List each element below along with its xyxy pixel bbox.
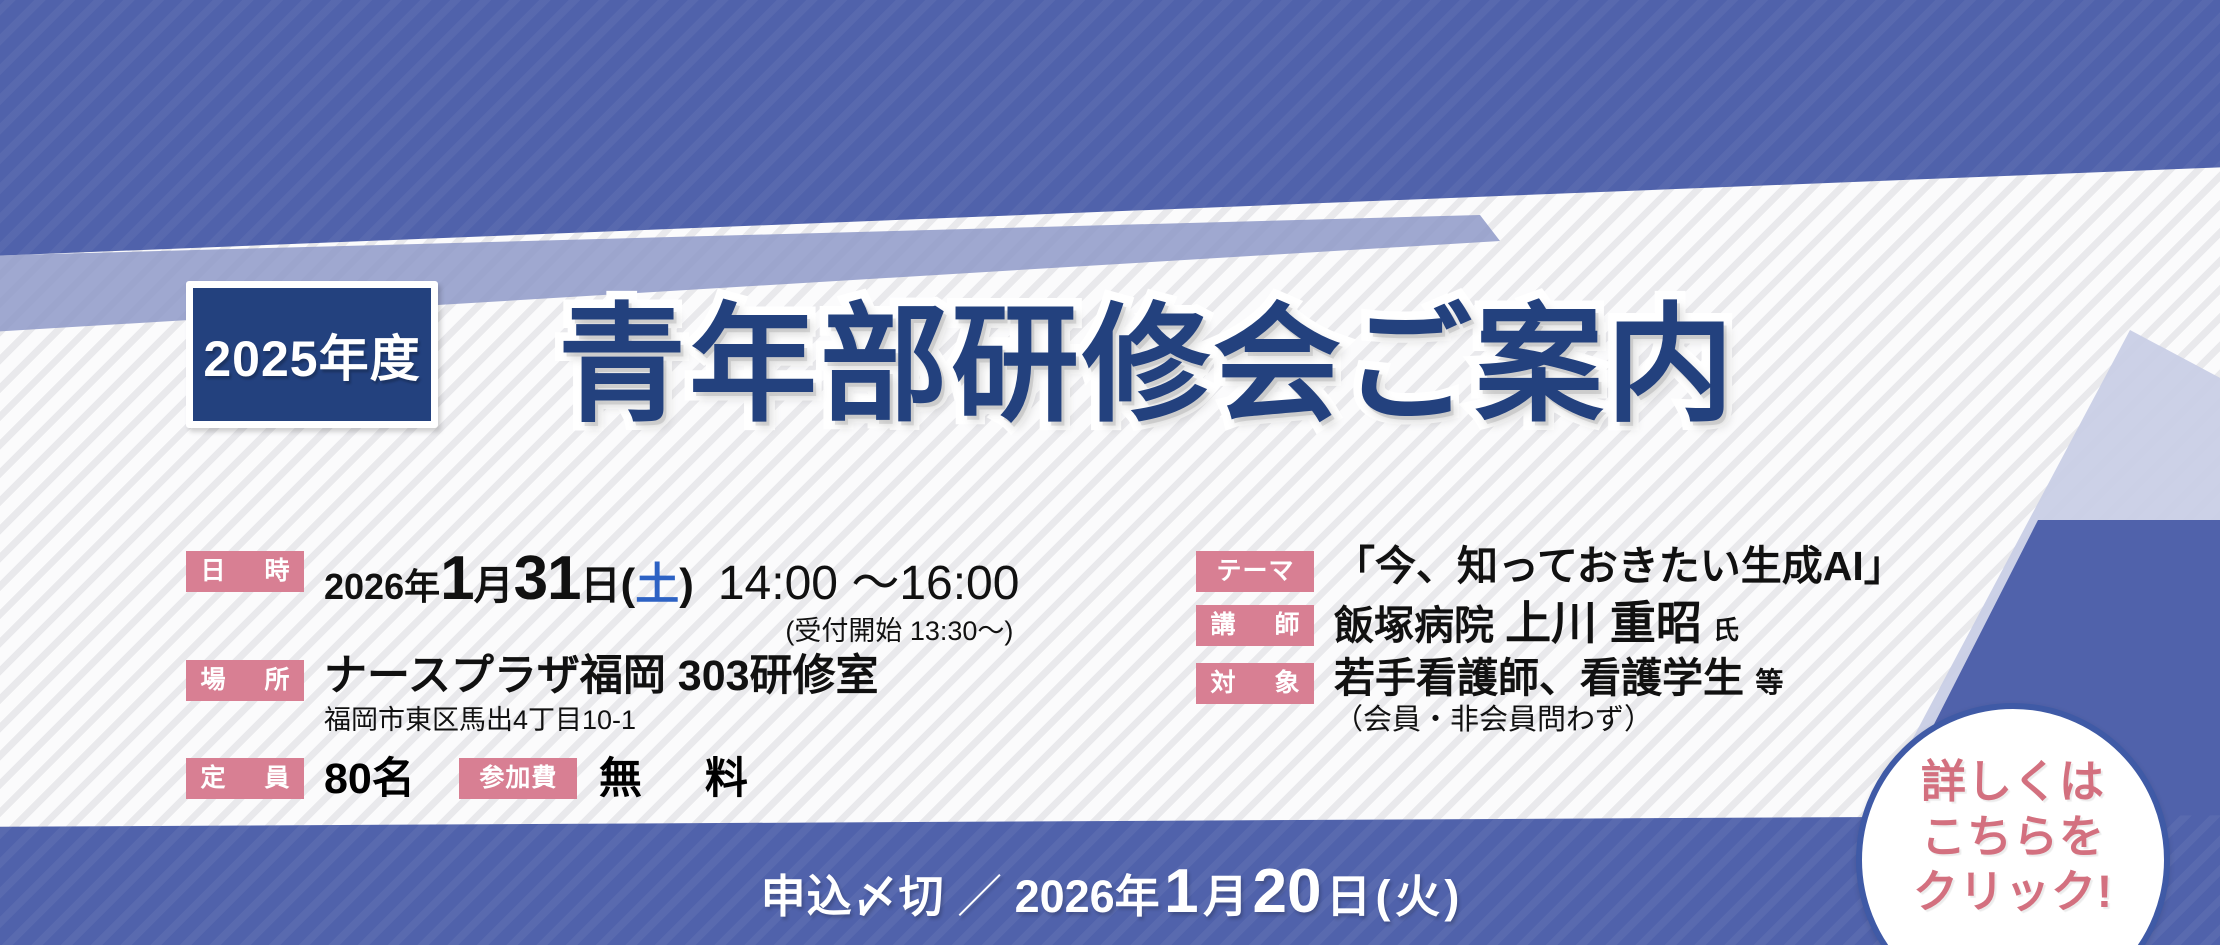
date-month-unit: 月 [474, 563, 514, 609]
date-paren-open: ( [621, 560, 636, 611]
theme-tag: テーマ [1196, 551, 1314, 592]
date-reception-note: (受付開始 13:30〜) [324, 616, 1019, 647]
target-suffix: 等 [1755, 667, 1783, 698]
deadline-day-number: 20 [1253, 857, 1322, 926]
cta-line-3: クリック! [1913, 865, 2113, 920]
target-value: 若手看護師、看護学生 等 [1334, 655, 1783, 702]
cta-line-2: こちらを [1921, 810, 2105, 865]
target-note: （会員・非会員問わず） [1334, 704, 1783, 737]
lecturer-tag: 講 師 [1196, 605, 1314, 646]
date-time-range: 14:00 〜16:00 [718, 556, 1020, 611]
deadline-month-number: 1 [1164, 857, 1198, 926]
fee-tag: 参加費 [459, 758, 577, 799]
date-value: 2026年 1 月 31 日 ( 土 ) 14:00 〜16:00 (受付開始 … [324, 543, 1019, 647]
venue-tag: 場 所 [186, 660, 304, 701]
theme-value: 「今、知っておきたい生成AI」 [1334, 543, 1905, 590]
venue-name: ナースプラザ福岡 303研修室 [324, 652, 879, 701]
lecturer-name: 上川 重昭 [1505, 597, 1702, 649]
venue-address: 福岡市東区馬出4丁目10-1 [324, 705, 879, 736]
info-row-venue: 場 所 ナースプラザ福岡 303研修室 福岡市東区馬出4丁目10-1 [186, 652, 1046, 735]
lecturer-affiliation: 飯塚病院 [1334, 604, 1494, 648]
target-tag: 対 象 [1196, 663, 1314, 704]
info-row-lecturer: 講 師 飯塚病院 上川 重昭 氏 [1196, 597, 1996, 650]
lecturer-honorific: 氏 [1713, 615, 1739, 645]
target-main: 若手看護師、看護学生 [1334, 655, 1744, 701]
info-row-target: 対 象 若手看護師、看護学生 等 （会員・非会員問わず） [1196, 655, 1996, 737]
date-year: 2026年 [324, 566, 440, 607]
date-day-number: 31 [514, 543, 581, 614]
cta-line-1: 詳しくは [1921, 755, 2105, 810]
info-column-left: 日 時 2026年 1 月 31 日 ( 土 ) 14:00 〜16:00 (受… [186, 543, 1046, 806]
deadline-paren-open: ( [1375, 871, 1390, 922]
fee-value: 無 料 [599, 744, 758, 806]
deadline-separator: ／ [957, 871, 1002, 922]
lecturer-value: 飯塚病院 上川 重昭 氏 [1334, 597, 1739, 650]
capacity-value: 80名 [324, 744, 415, 806]
theme-value-wrap: 「今、知っておきたい生成AI」 [1334, 543, 1905, 590]
date-day-unit: 日 [581, 563, 621, 609]
info-row-date: 日 時 2026年 1 月 31 日 ( 土 ) 14:00 〜16:00 (受… [186, 543, 1046, 647]
year-badge: 2025年度 [186, 281, 438, 428]
capacity-tag: 定 員 [186, 758, 304, 799]
info-row-capacity-fee: 定 員 80名 参加費 無 料 [186, 744, 1046, 806]
venue-value: ナースプラザ福岡 303研修室 福岡市東区馬出4丁目10-1 [324, 652, 879, 735]
target-value-wrap: 若手看護師、看護学生 等 （会員・非会員問わず） [1334, 655, 1783, 737]
date-month-number: 1 [440, 543, 473, 614]
deadline-paren-close: ) [1444, 871, 1459, 922]
event-banner[interactable]: 2025年度 青年部研修会ご案内 日 時 2026年 1 月 31 日 ( [0, 0, 2220, 945]
date-tag: 日 時 [186, 551, 304, 592]
deadline-year: 2026年 [1015, 871, 1160, 922]
year-badge-label: 2025年度 [203, 319, 420, 391]
deadline-weekday: 火 [1395, 871, 1440, 922]
info-row-theme: テーマ 「今、知っておきたい生成AI」 [1196, 543, 1996, 592]
info-column-right: テーマ 「今、知っておきたい生成AI」 講 師 飯塚病院 上川 重昭 氏 [1196, 543, 1996, 742]
main-title: 青年部研修会ご案内 [558, 268, 2008, 438]
deadline-label: 申込〆切 [761, 871, 945, 922]
main-title-text: 青年部研修会ご案内 [558, 261, 1737, 446]
date-weekday: 土 [635, 560, 679, 611]
lecturer-value-wrap: 飯塚病院 上川 重昭 氏 [1334, 597, 1739, 650]
date-paren-close: ) [679, 560, 694, 611]
banner-content: 2025年度 青年部研修会ご案内 日 時 2026年 1 月 31 日 ( [0, 0, 2220, 945]
deadline-month-unit: 月 [1203, 871, 1248, 922]
deadline-day-unit: 日 [1326, 871, 1371, 922]
